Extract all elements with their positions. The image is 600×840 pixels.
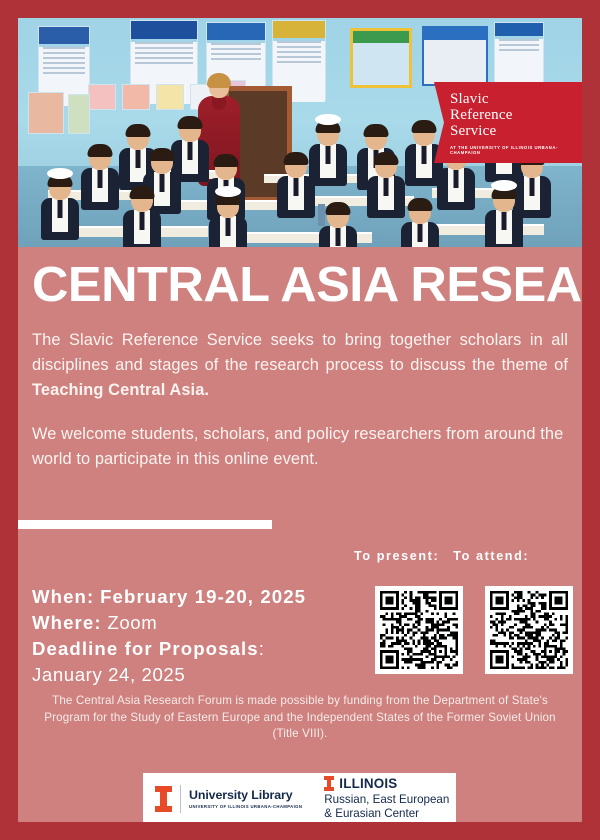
detail-deadline: Deadline for Proposals: xyxy=(32,636,362,662)
university-library-logo: University Library UNIVERSITY OF ILLINOI… xyxy=(143,785,302,813)
when-value: February 19-20, 2025 xyxy=(100,586,306,607)
reeec-logo: ILLINOIS Russian, East European & Eurasi… xyxy=(302,776,449,821)
intro-lead: The Slavic Reference Service seeks to br… xyxy=(32,331,568,374)
wall-poster xyxy=(350,28,412,88)
srs-tagline: AT THE UNIVERSITY OF ILLINOIS URBANA-CHA… xyxy=(450,145,574,155)
reeec-line-1: Russian, East European xyxy=(324,793,449,807)
deadline-label: Deadline for Proposals xyxy=(32,638,259,659)
wall-poster-small xyxy=(88,84,116,110)
qr-present-label: To present: xyxy=(354,549,439,563)
poster: Slavic Reference Service AT THE UNIVERSI… xyxy=(0,0,600,840)
srs-line-2: Reference xyxy=(450,107,574,123)
qr-code-attend[interactable] xyxy=(485,586,573,674)
block-i-icon xyxy=(155,786,172,812)
block-i-icon xyxy=(324,776,334,791)
event-details: When: February 19-20, 2025 Where: Zoom D… xyxy=(32,584,362,688)
qr-attend-label: To attend: xyxy=(453,549,529,563)
srs-line-3: Service xyxy=(450,123,574,139)
illinois-wordmark: ILLINOIS xyxy=(339,776,397,791)
when-label: When: xyxy=(32,586,94,607)
where-label: Where: xyxy=(32,612,102,633)
where-value: Zoom xyxy=(107,612,157,633)
wall-poster-small xyxy=(156,84,184,110)
poster-inner: Slavic Reference Service AT THE UNIVERSI… xyxy=(18,18,582,822)
desk-leg xyxy=(318,204,325,226)
detail-where: Where: Zoom xyxy=(32,610,362,636)
divider-bar xyxy=(18,520,272,529)
welcome-paragraph: We welcome students, scholars, and polic… xyxy=(32,422,568,472)
reeec-line-2: & Eurasian Center xyxy=(324,807,449,821)
slavic-reference-service-logo: Slavic Reference Service AT THE UNIVERSI… xyxy=(434,82,582,163)
detail-deadline-date: January 24, 2025 xyxy=(32,662,362,688)
funding-note: The Central Asia Research Forum is made … xyxy=(32,693,568,743)
university-library-name: University Library xyxy=(189,789,302,802)
deadline-colon: : xyxy=(259,638,265,659)
wall-poster-small xyxy=(122,84,150,110)
intro-paragraph: The Slavic Reference Service seeks to br… xyxy=(32,328,568,403)
wall-poster xyxy=(494,22,544,84)
wall-poster-small xyxy=(28,92,64,134)
classroom-photo: Slavic Reference Service AT THE UNIVERSI… xyxy=(18,18,582,247)
qr-code-present[interactable] xyxy=(375,586,463,674)
wall-poster xyxy=(422,26,488,86)
intro-theme: Teaching Central Asia. xyxy=(32,381,209,399)
detail-when: When: February 19-20, 2025 xyxy=(32,584,362,610)
sponsor-logo-bar: University Library UNIVERSITY OF ILLINOI… xyxy=(143,773,456,822)
srs-banner-notch xyxy=(580,82,582,163)
logo-divider xyxy=(180,785,181,813)
university-library-tagline: UNIVERSITY OF ILLINOIS URBANA-CHAMPAIGN xyxy=(189,804,302,809)
srs-line-1: Slavic xyxy=(450,91,574,107)
page-title: CENTRAL ASIA RESEARCH FORUM xyxy=(32,259,582,311)
qr-labels: To present:To attend: xyxy=(354,549,569,563)
wall-poster-small xyxy=(68,94,90,134)
